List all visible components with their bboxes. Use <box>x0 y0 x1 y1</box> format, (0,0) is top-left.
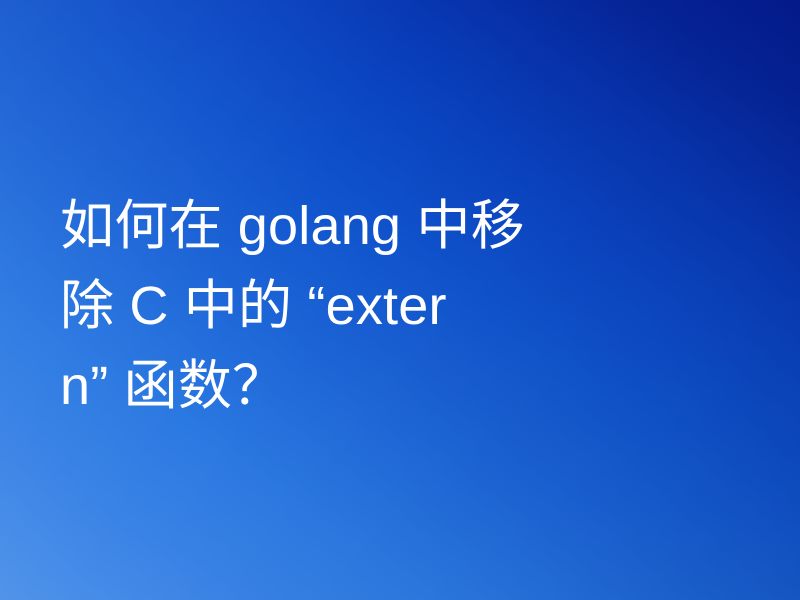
headline-line-3: n” 函数？ <box>60 346 660 426</box>
title-card: 如何在 golang 中移 除 C 中的 “exter n” 函数？ <box>0 0 800 600</box>
headline: 如何在 golang 中移 除 C 中的 “exter n” 函数？ <box>60 186 660 426</box>
headline-line-1: 如何在 golang 中移 <box>60 186 660 266</box>
headline-line-2: 除 C 中的 “exter <box>60 266 660 346</box>
